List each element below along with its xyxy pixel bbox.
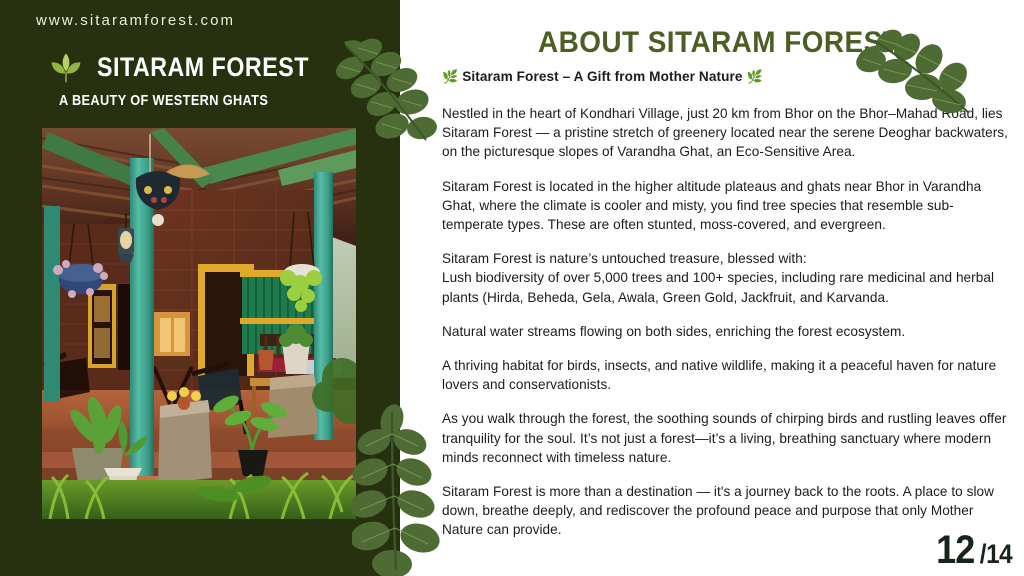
paragraph: A thriving habitat for birds, insects, a… [442,356,1008,394]
page-number: 12 /14 [934,532,1014,572]
body-copy: Nestled in the heart of Kondhari Village… [442,104,1008,540]
three-leaf-icon [46,48,86,86]
brand-logo-block: SITARAM FOREST A BEAUTY OF WESTERN GHATS [46,48,343,109]
page-title: ABOUT SITARAM FOREST [538,26,900,60]
brand-name: SITARAM FOREST [97,52,309,83]
paragraph-line: Lush biodiversity of over 5,000 trees an… [442,268,1008,306]
section-subtitle: 🌿 Sitaram Forest – A Gift from Mother Na… [442,69,763,85]
paragraph: Sitaram Forest is located in the higher … [442,177,1008,235]
paragraph: Sitaram Forest is more than a destinatio… [442,482,1008,540]
paragraph-line: Sitaram Forest is nature’s untouched tre… [442,249,1008,268]
logo-row: SITARAM FOREST [46,48,343,86]
page-number-current: 12 [937,532,975,568]
paragraph: Nestled in the heart of Kondhari Village… [442,104,1008,162]
verandah-photo [42,128,356,519]
slide-canvas: www.sitaramforest.com SITARAM FOREST A B… [0,0,1024,576]
herb-icon-left: 🌿 [442,69,458,84]
section-subtitle-text: Sitaram Forest – A Gift from Mother Natu… [462,69,742,84]
paragraph: Natural water streams flowing on both si… [442,322,1008,341]
about-content: ABOUT SITARAM FOREST 🌿 Sitaram Forest – … [442,0,1014,576]
paragraph-group-biodiversity: Sitaram Forest is nature’s untouched tre… [442,249,1008,307]
herb-icon-right: 🌿 [746,69,762,84]
paragraph: As you walk through the forest, the soot… [442,409,1008,467]
brand-tagline: A BEAUTY OF WESTERN GHATS [59,93,268,109]
page-number-total: /14 [980,536,1012,572]
site-url: www.sitaramforest.com [36,12,235,29]
